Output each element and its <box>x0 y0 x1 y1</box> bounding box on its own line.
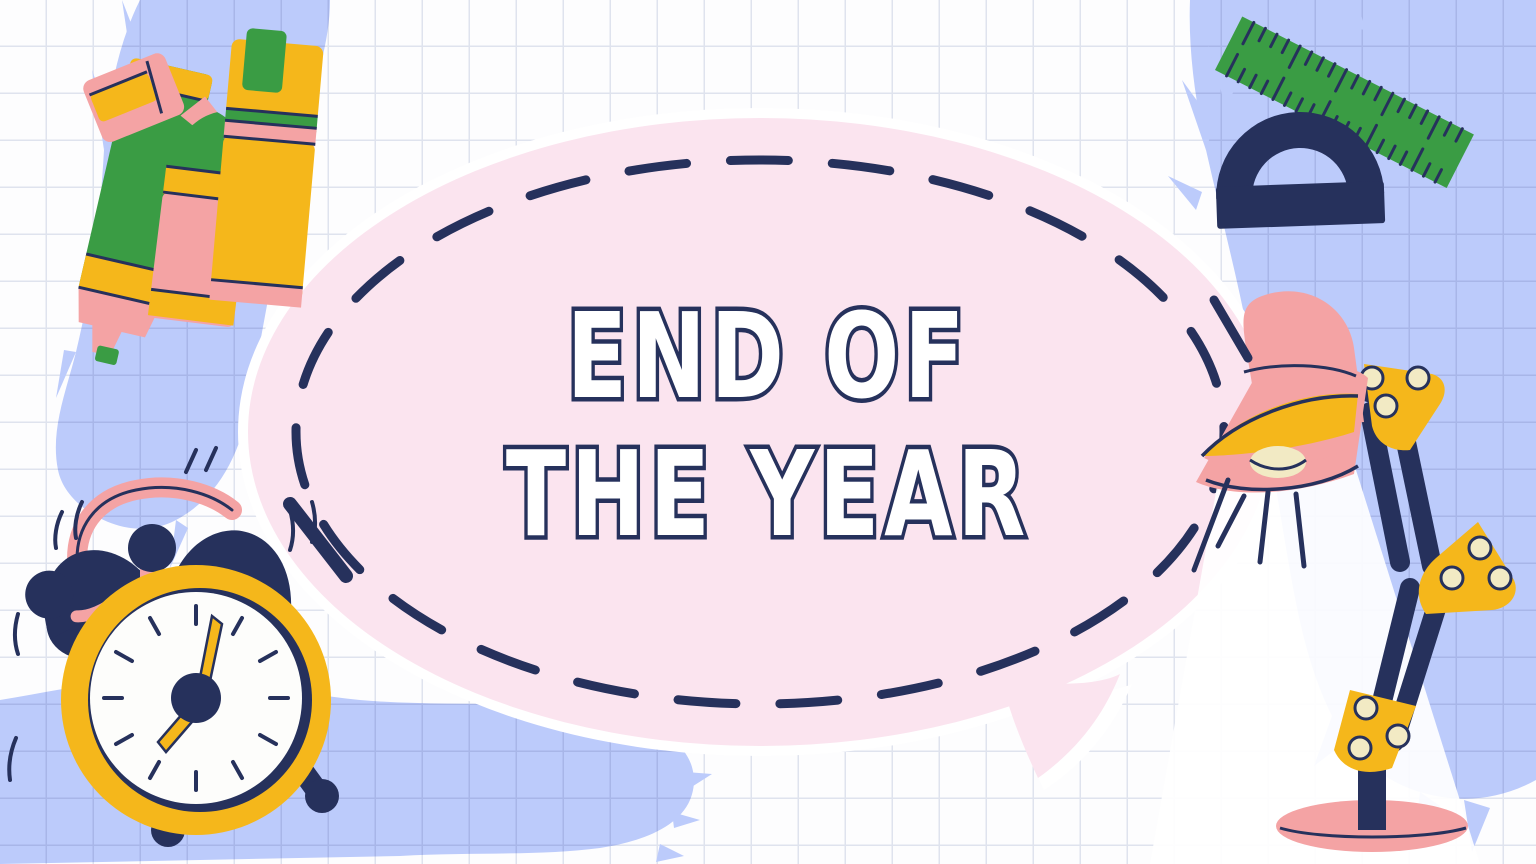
lamp-accent-dashes <box>1214 300 1248 358</box>
alarm-clock-motion-dash <box>290 504 346 576</box>
decorations-layer <box>0 0 1536 864</box>
alarm-clock-center-pin <box>171 673 221 723</box>
alarm-clock <box>9 448 346 847</box>
highlighter-marker-yellow <box>209 27 325 308</box>
slide-canvas: END OF THE YEAR <box>0 0 1536 864</box>
desk-lamp <box>1150 291 1516 864</box>
